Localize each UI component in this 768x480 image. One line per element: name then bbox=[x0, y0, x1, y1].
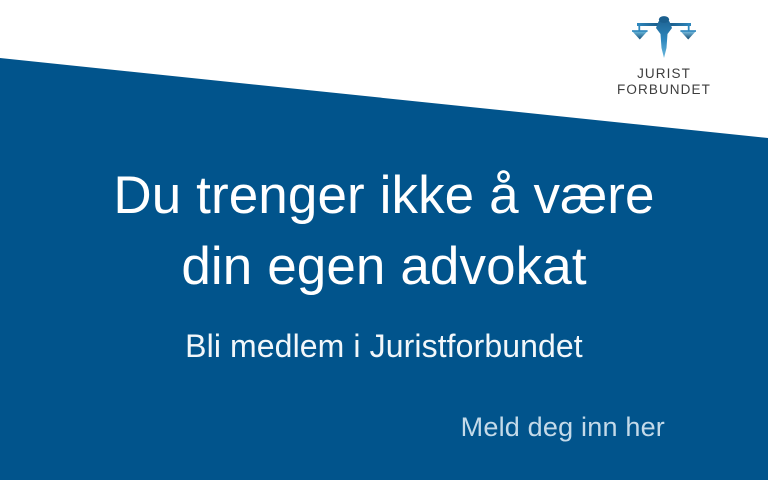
subtitle: Bli medlem i Juristforbundet bbox=[0, 326, 768, 366]
advertisement-banner[interactable]: JURIST FORBUNDET Du trenger ikke å være … bbox=[0, 0, 768, 480]
signup-cta-link[interactable]: Meld deg inn her bbox=[461, 410, 665, 444]
headline: Du trenger ikke å være din egen advokat bbox=[0, 160, 768, 302]
headline-line-2: din egen advokat bbox=[0, 231, 768, 302]
brand-wordmark: JURIST FORBUNDET bbox=[606, 66, 722, 98]
brand-logo[interactable]: JURIST FORBUNDET bbox=[606, 14, 722, 98]
scales-of-justice-icon bbox=[631, 14, 697, 60]
brand-wordmark-line-2: FORBUNDET bbox=[606, 82, 722, 98]
headline-line-1: Du trenger ikke å være bbox=[0, 160, 768, 231]
brand-wordmark-line-1: JURIST bbox=[606, 66, 722, 82]
